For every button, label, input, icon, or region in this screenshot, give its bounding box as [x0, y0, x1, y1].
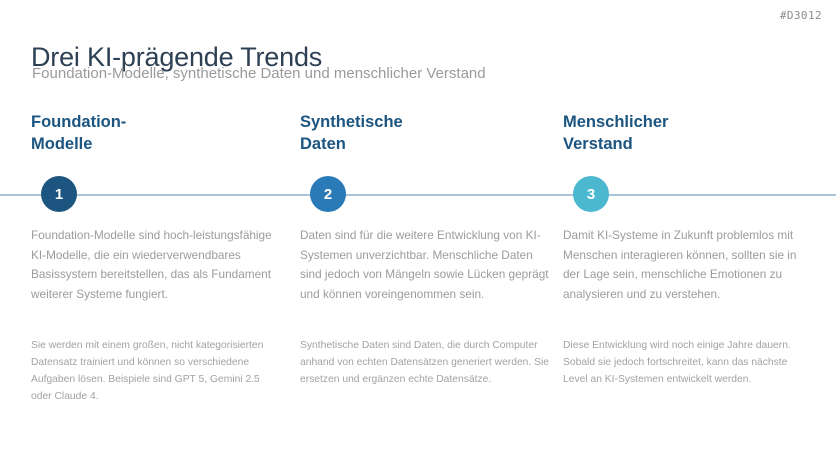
trend-column-1: Foundation- Modelle 1 Foundation-Modelle…: [31, 112, 281, 156]
slide-canvas: #D3012 Drei KI-prägende Trends Foundatio…: [0, 0, 836, 470]
trend-lead-text-3: Damit KI-Systeme in Zukunft problemlos m…: [563, 226, 809, 304]
trend-detail-text-2: Synthetische Daten sind Daten, die durch…: [300, 338, 550, 389]
trend-columns: Foundation- Modelle 1 Foundation-Modelle…: [0, 0, 836, 470]
step-badge-number-3: 3: [587, 186, 595, 203]
trend-column-3: Menschlicher Verstand 3 Damit KI-Systeme…: [563, 112, 815, 156]
step-badge-1: 1: [41, 176, 77, 212]
trend-heading-2: Synthetische Daten: [300, 112, 550, 156]
trend-detail-text-1: Sie werden mit einem großen, nicht kateg…: [31, 338, 281, 406]
trend-column-2: Synthetische Daten 2 Daten sind für die …: [300, 112, 550, 156]
trend-heading-1: Foundation- Modelle: [31, 112, 281, 156]
step-badge-number-1: 1: [55, 186, 63, 203]
step-badge-2: 2: [310, 176, 346, 212]
step-badge-number-2: 2: [324, 186, 332, 203]
trend-heading-3: Menschlicher Verstand: [563, 112, 815, 156]
trend-detail-text-3: Diese Entwicklung wird noch einige Jahre…: [563, 338, 811, 389]
step-badge-3: 3: [573, 176, 609, 212]
trend-lead-text-1: Foundation-Modelle sind hoch-leistungsfä…: [31, 226, 281, 304]
trend-lead-text-2: Daten sind für die weitere Entwicklung v…: [300, 226, 550, 304]
